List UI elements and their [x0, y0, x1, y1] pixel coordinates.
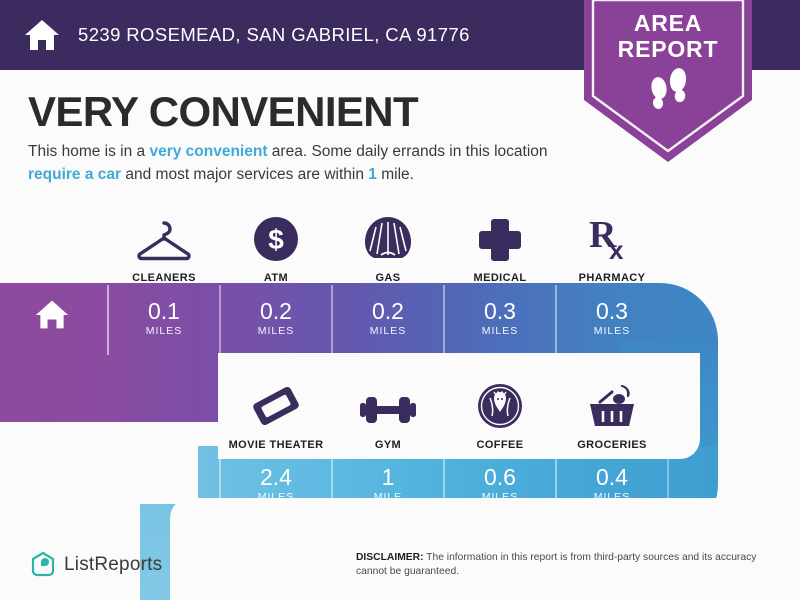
category-movie-theater: MOVIE THEATER [220, 372, 332, 451]
rx-icon: R x [556, 205, 668, 263]
subtitle-part-1: This home is in a [28, 143, 149, 160]
category-label: GYM [332, 439, 444, 451]
cell-divider [555, 285, 557, 355]
category-label: ATM [220, 272, 332, 284]
cell-divider [331, 458, 333, 510]
category-cleaners: CLEANERS [108, 205, 220, 284]
category-gas: GAS [332, 205, 444, 284]
dumbbell-icon [332, 372, 444, 430]
category-groceries: GROCERIES [556, 372, 668, 451]
dollar-circle-icon: $ [220, 205, 332, 263]
disclaimer: DISCLAIMER: The information in this repo… [356, 551, 788, 578]
hanger-icon [108, 205, 220, 263]
basket-icon [556, 372, 668, 430]
category-label: GROCERIES [556, 439, 668, 451]
infographic-page: 5239 ROSEMEAD, SAN GABRIEL, CA 91776 ARE… [0, 0, 800, 600]
cell-divider [331, 285, 333, 355]
category-atm: $ ATM [220, 205, 332, 284]
cell-divider [443, 458, 445, 510]
medical-cross-icon [444, 205, 556, 263]
category-label: MOVIE THEATER [220, 439, 332, 451]
area-report-badge: AREA REPORT [578, 0, 758, 166]
row2-icon-backdrop-left [170, 498, 730, 600]
category-coffee: COFFEE [444, 372, 556, 451]
category-label: MEDICAL [444, 272, 556, 284]
listreports-logo[interactable]: ListReports [30, 551, 162, 579]
category-label: CLEANERS [108, 272, 220, 284]
subtitle-highlight-1: very convenient [149, 143, 267, 160]
cell-divider [219, 458, 221, 510]
svg-text:$: $ [268, 224, 284, 255]
subtitle-highlight-3: 1 [368, 166, 377, 183]
ticket-icon [220, 372, 332, 430]
category-pharmacy: R x PHARMACY [556, 205, 668, 284]
category-label: PHARMACY [556, 272, 668, 284]
subtitle-part-2: area. Some daily errands in this locatio… [268, 143, 548, 160]
category-medical: MEDICAL [444, 205, 556, 284]
disclaimer-label: DISCLAIMER: [356, 552, 424, 563]
shell-icon [332, 205, 444, 263]
listreports-tag-icon [30, 551, 56, 579]
category-label: COFFEE [444, 439, 556, 451]
home-icon [22, 15, 62, 55]
page-title: VERY CONVENIENT [28, 88, 418, 136]
cell-divider [667, 458, 669, 510]
subtitle-part-4: mile. [377, 166, 414, 183]
subtitle-highlight-2: require a car [28, 166, 121, 183]
siren-coffee-icon [444, 372, 556, 430]
property-address: 5239 ROSEMEAD, SAN GABRIEL, CA 91776 [78, 24, 470, 46]
category-gym: GYM [332, 372, 444, 451]
cell-divider [219, 285, 221, 355]
cell-divider [555, 458, 557, 510]
subtitle-part-3: and most major services are within [121, 166, 368, 183]
category-label: GAS [332, 272, 444, 284]
cell-divider [107, 285, 109, 355]
page-subtitle: This home is in a very convenient area. … [28, 140, 568, 186]
cell-divider [443, 285, 445, 355]
svg-text:x: x [609, 235, 624, 263]
logo-text: ListReports [64, 554, 162, 576]
